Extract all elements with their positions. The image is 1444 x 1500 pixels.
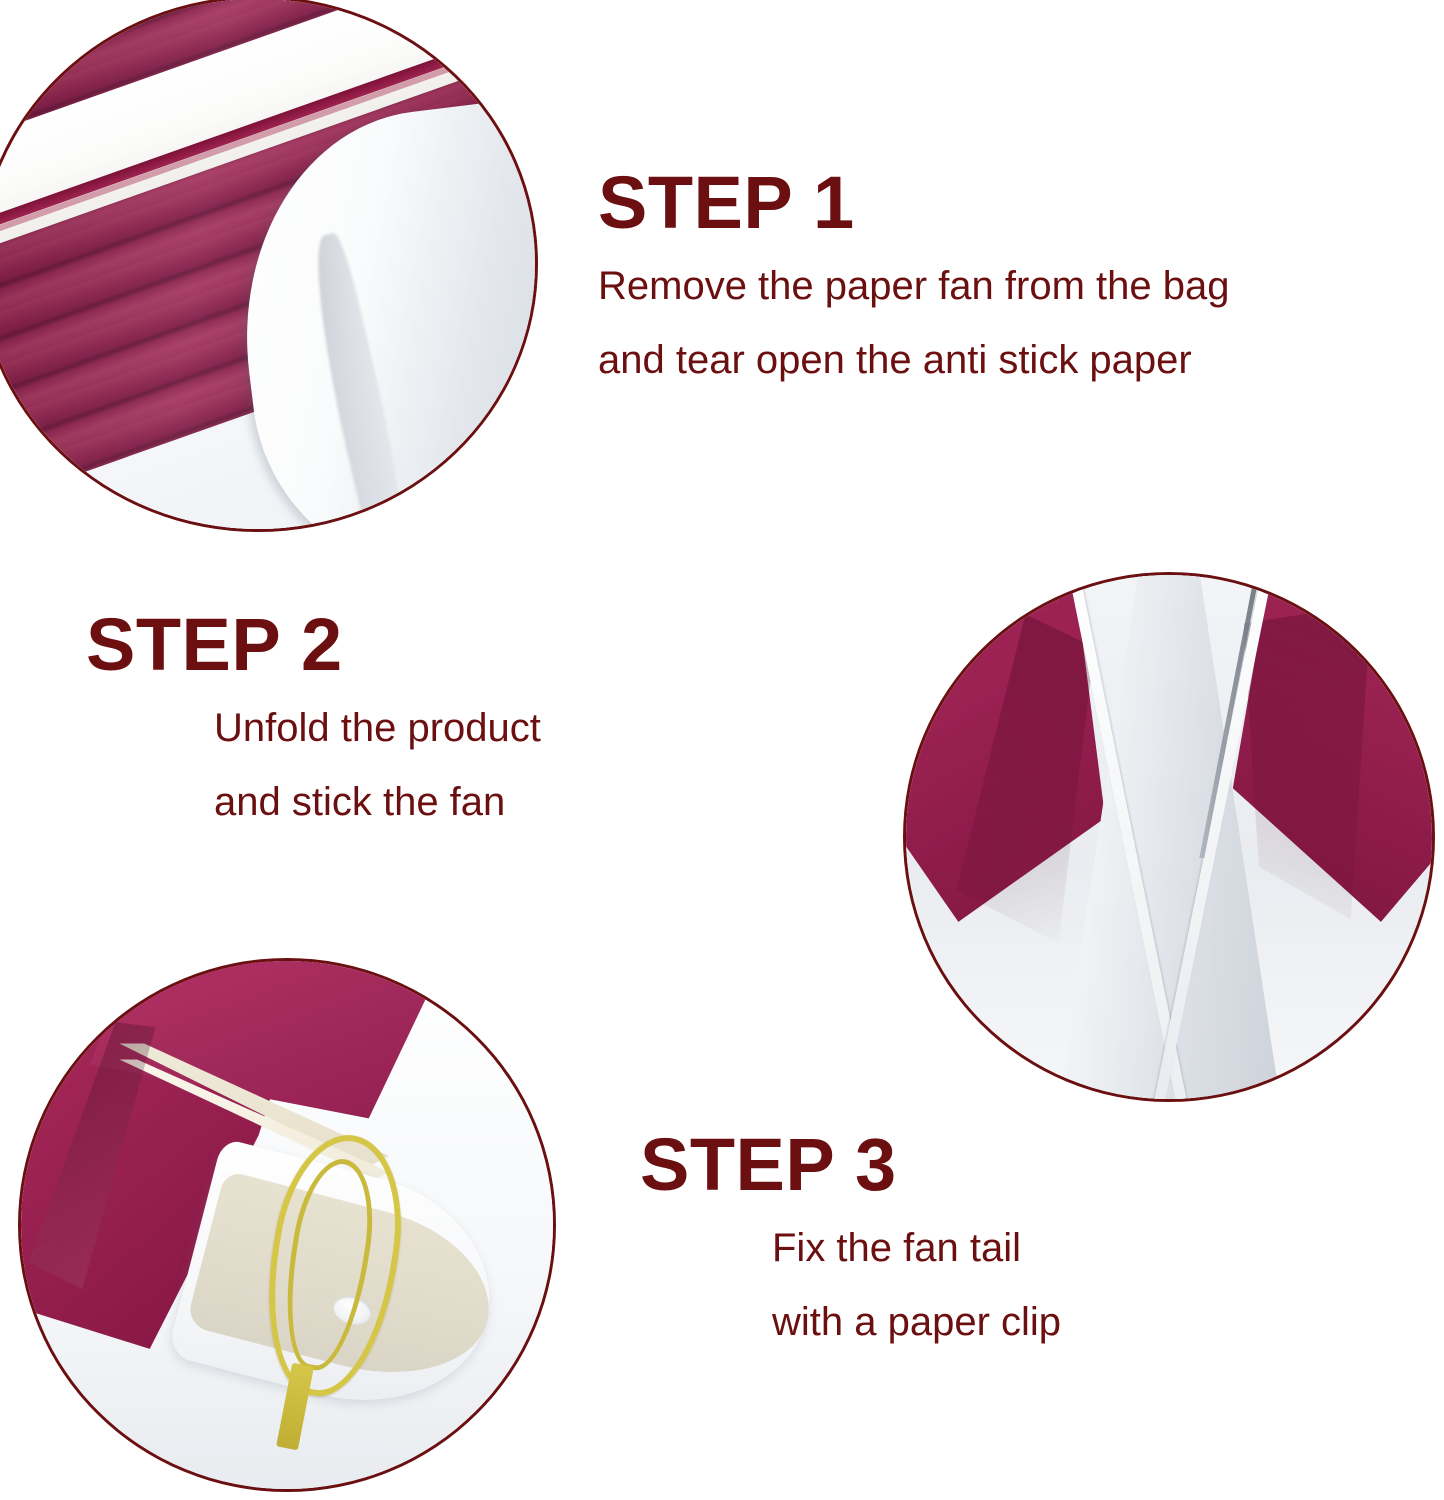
step3-text-block: STEP 3 Fix the fan tail with a paper cli… <box>640 1128 1061 1342</box>
step2-photo-scene <box>903 572 1435 1102</box>
step1-title: STEP 1 <box>598 166 1229 240</box>
step2-instruction-line-1: Unfold the product <box>214 708 541 748</box>
step3-photo-circle <box>18 958 556 1492</box>
step2-instruction-line-2: and stick the fan <box>214 782 541 822</box>
anti-stick-paper-fold-shadow <box>299 230 426 532</box>
step1-instruction-line-2: and tear open the anti stick paper <box>598 340 1229 380</box>
step1-text-block: STEP 1 Remove the paper fan from the bag… <box>598 166 1229 380</box>
step3-instruction-line-1: Fix the fan tail <box>772 1228 1061 1268</box>
step1-photo-scene <box>0 0 538 532</box>
step3-instruction-line-2: with a paper clip <box>772 1302 1061 1342</box>
step3-title: STEP 3 <box>640 1128 1061 1202</box>
infographic-canvas: STEP 1 Remove the paper fan from the bag… <box>0 0 1444 1500</box>
step2-photo-circle <box>903 572 1435 1102</box>
step3-photo-scene <box>18 958 556 1492</box>
step1-instruction-line-1: Remove the paper fan from the bag <box>598 266 1229 306</box>
step2-text-block: STEP 2 Unfold the product and stick the … <box>86 608 541 822</box>
step2-title: STEP 2 <box>86 608 541 682</box>
step1-photo-circle <box>0 0 538 532</box>
